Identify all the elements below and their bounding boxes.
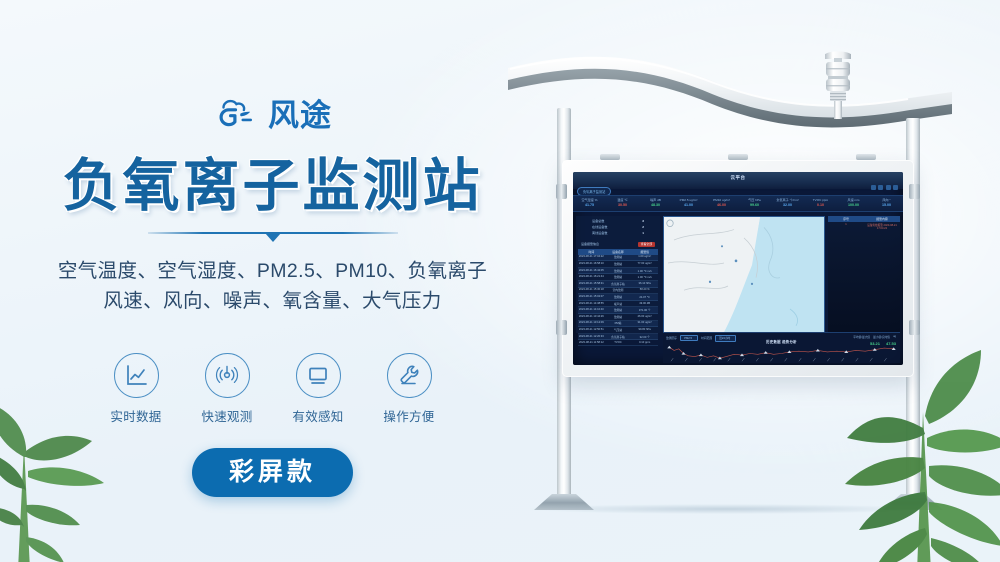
dashboard-screen[interactable]: 云平台 负氧离子监测站 空气湿度 %41.75温度 ℃30.50噪声 dB48.… bbox=[573, 172, 903, 365]
line-chart-icon bbox=[114, 353, 159, 398]
metric-value: 41.75 bbox=[573, 203, 606, 209]
metric-strip: 空气湿度 %41.75温度 ℃30.50噪声 dB48.30PM2.5 ug/m… bbox=[573, 195, 903, 212]
table-cell: 噪声站 bbox=[605, 302, 632, 306]
stat-label: 离线设备数 bbox=[592, 231, 607, 237]
table-cell: 1.00 ug/m³ bbox=[631, 255, 658, 259]
cabinet-hinge bbox=[909, 184, 920, 199]
table-row[interactable]: 2023-08-21 15:02:07监测站24.07 ℃ bbox=[578, 294, 658, 301]
toolbar-icon[interactable] bbox=[886, 185, 891, 190]
china-map-icon bbox=[664, 217, 824, 332]
table-cell: 气压站 bbox=[605, 328, 632, 332]
title-divider bbox=[148, 229, 398, 243]
table-row[interactable]: 2023-08-21 12:20:33负氧离子站32.00 个 bbox=[578, 334, 658, 341]
table-cell: 49.00 dB bbox=[631, 302, 658, 306]
table-row[interactable]: 2023-08-21 14:10:40监测站371.00 个 bbox=[578, 307, 658, 314]
table-cell: 1.00 ℃ m/s bbox=[631, 275, 658, 279]
table-cell: 2023-08-21 15:02:07 bbox=[578, 295, 605, 299]
device-stats-and-alarm-panel: 设备总数3在线设备数2离线设备数1 设备报警信息 查看全部 时间设备名称报警值 … bbox=[576, 216, 660, 333]
metric-cell: 空气湿度 %41.75 bbox=[573, 196, 606, 211]
chart-title: 历史数据 趋势分析 bbox=[663, 339, 900, 344]
monitoring-station-device: 云平台 负氧离子监测站 空气湿度 %41.75温度 ℃30.50噪声 dB48.… bbox=[500, 0, 1000, 562]
metric-cell: 风速 m/s100.00 bbox=[837, 196, 870, 211]
table-cell: 2023-08-21 17:04:22 bbox=[578, 255, 605, 259]
table-cell: 77.00 ug/m³ bbox=[631, 262, 658, 266]
table-cell: 36.10 hPa bbox=[631, 282, 658, 286]
table-cell: 31.00 ug/m³ bbox=[631, 321, 658, 325]
metric-cell: PM10 ug/m³46.00 bbox=[705, 196, 738, 211]
table-cell: 2023-08-21 13:44:26 bbox=[578, 315, 605, 319]
table-cell: 2023-08-21 16:42:05 bbox=[578, 269, 605, 273]
table-cell: 99.80 hPa bbox=[631, 328, 658, 332]
toolbar-icon[interactable] bbox=[893, 185, 898, 190]
metric-value: 0.10 bbox=[804, 203, 837, 209]
table-row[interactable]: 2023-08-21 13:12:09PM站31.00 ug/m³ bbox=[578, 321, 658, 328]
table-row[interactable]: 2023-08-21 14:38:55噪声站49.00 dB bbox=[578, 301, 658, 308]
device-stat-list: 设备总数3在线设备数2离线设备数1 bbox=[576, 216, 660, 239]
brand-name: 风途 bbox=[268, 101, 332, 132]
feature-list: 实时数据 快速观测 有效感知 bbox=[107, 353, 438, 425]
metric-cell: 负氧离子 个/cm³32.00 bbox=[771, 196, 804, 211]
metric-cell: 气压 hPa99.60 bbox=[738, 196, 771, 211]
trend-chart-panel: 监测因子 PM2.5 时间范围 近24小时 平均值/最大值 最小值/实时值 ug… bbox=[663, 332, 900, 363]
table-cell: 2023-08-21 15:30:18 bbox=[578, 288, 605, 292]
table-cell: PM站 bbox=[605, 321, 632, 325]
cabinet-hinge bbox=[556, 320, 567, 335]
table-cell: 室内监测 bbox=[605, 288, 632, 292]
feature-item-realtime-data[interactable]: 实时数据 bbox=[107, 353, 165, 425]
log-column-header: 报警内容 bbox=[864, 217, 900, 221]
table-cell: 46.00 ug/m³ bbox=[631, 315, 658, 319]
toolbar-icon[interactable] bbox=[878, 185, 883, 190]
subtitle-line-2: 风速、风向、噪声、氧含量、大气压力 bbox=[58, 287, 487, 317]
feature-label: 操作方便 bbox=[383, 406, 434, 425]
alarm-column-header: 设备名称 bbox=[605, 250, 632, 254]
feature-item-easy-operation[interactable]: 操作方便 bbox=[380, 353, 438, 425]
table-cell: 58.20 % bbox=[631, 288, 658, 292]
table-row[interactable]: 2023-08-21 11:58:12TVOC0.10 ppm bbox=[578, 340, 658, 346]
metric-value: 32.00 bbox=[771, 203, 804, 209]
screen-toolbar-icons[interactable] bbox=[871, 185, 899, 190]
metric-value: 100.00 bbox=[837, 203, 870, 209]
radar-sensor-icon bbox=[205, 353, 250, 398]
dashboard-title: 云平台 bbox=[573, 175, 903, 181]
metric-value: 99.60 bbox=[738, 203, 771, 209]
metric-cell: PM2.5 ug/m³41.00 bbox=[672, 196, 705, 211]
table-cell: 2023-08-21 12:50:51 bbox=[578, 328, 605, 332]
divider-triangle-icon bbox=[265, 233, 281, 242]
toolbar-icon[interactable] bbox=[871, 185, 876, 190]
table-cell: TVOC bbox=[605, 341, 632, 344]
table-cell: 2023-08-21 16:21:44 bbox=[578, 275, 605, 279]
page-title: 负氧离子监测站 bbox=[63, 156, 483, 216]
metric-value: 48.30 bbox=[639, 203, 672, 209]
alarm-table-body: 2023-08-21 17:04:22监测站1.00 ug/m³2023-08-… bbox=[576, 255, 660, 346]
view-all-badge[interactable]: 查看全部 bbox=[638, 242, 655, 247]
metric-value: 15.00 bbox=[870, 203, 903, 209]
feature-item-fast-observation[interactable]: 快速观测 bbox=[198, 353, 256, 425]
table-cell: 监测站 bbox=[605, 308, 632, 312]
table-cell: 监测站 bbox=[605, 275, 632, 279]
cabinet-hinge bbox=[556, 184, 567, 199]
table-cell: 2023-08-21 12:20:33 bbox=[578, 335, 605, 339]
table-cell: 2023-08-21 16:58:10 bbox=[578, 262, 605, 266]
table-row[interactable]: 2023-08-21 13:44:26监测站46.00 ug/m³ bbox=[578, 314, 658, 321]
cabinet-top-brackets bbox=[562, 154, 914, 162]
alarm-panel-title: 设备报警信息 bbox=[581, 242, 599, 246]
table-row[interactable]: 2023-08-21 17:04:22监测站1.00 ug/m³ bbox=[578, 255, 658, 262]
brand-logo: 风途 bbox=[213, 96, 332, 136]
table-cell: 负氧离子站 bbox=[605, 335, 632, 339]
cabinet-bracket bbox=[856, 154, 876, 160]
log-column-header: 序号 bbox=[828, 217, 864, 221]
subtitle-line-1: 空气温度、空气湿度、PM2.5、PM10、负氧离子 bbox=[58, 257, 487, 287]
display-cabinet: 云平台 负氧离子监测站 空气湿度 %41.75温度 ℃30.50噪声 dB48.… bbox=[562, 160, 914, 377]
table-cell: 1.00 ℃ m/s bbox=[631, 269, 658, 273]
trend-line-chart bbox=[663, 345, 900, 362]
feature-label: 有效感知 bbox=[292, 406, 343, 425]
table-cell: 监测站 bbox=[605, 262, 632, 266]
hero-text-column: 风途 负氧离子监测站 空气温度、空气湿度、PM2.5、PM10、负氧离子 风速、… bbox=[0, 0, 545, 562]
metric-cell: 噪声 dB48.30 bbox=[639, 196, 672, 211]
table-cell: 2023-08-21 14:38:55 bbox=[578, 302, 605, 306]
table-row[interactable]: 2023-08-21 16:58:10监测站77.00 ug/m³ bbox=[578, 261, 658, 268]
metric-cell: 温度 ℃30.50 bbox=[606, 196, 639, 211]
metric-cell: TVOC ppm0.10 bbox=[804, 196, 837, 211]
china-map-panel[interactable] bbox=[663, 216, 825, 333]
table-row[interactable]: 2023-08-21 16:42:05监测站1.00 ℃ m/s bbox=[578, 268, 658, 275]
stat-value: 1 bbox=[642, 231, 644, 237]
table-row[interactable]: 2023-08-21 12:50:51气压站99.80 hPa bbox=[578, 327, 658, 334]
table-cell: 2023-08-21 15:58:31 bbox=[578, 282, 605, 286]
table-cell: 2023-08-21 11:58:12 bbox=[578, 341, 605, 344]
feature-label: 实时数据 bbox=[110, 406, 161, 425]
alarm-panel-header: 设备报警信息 查看全部 bbox=[578, 241, 658, 248]
cabinet-hinge bbox=[909, 320, 920, 335]
table-cell: 2023-08-21 13:12:09 bbox=[578, 321, 605, 325]
hero-subtitle: 空气温度、空气湿度、PM2.5、PM10、负氧离子 风速、风向、噪声、氧含量、大… bbox=[58, 257, 487, 316]
log-cell: 设备离线报警 2023-08-21 17:04:22 bbox=[864, 223, 900, 230]
cloud-g-leaf-logo-icon bbox=[213, 96, 259, 136]
alarm-column-header: 时间 bbox=[578, 250, 605, 254]
table-cell: 0.10 ppm bbox=[631, 341, 658, 344]
table-cell: 负氧离子站 bbox=[605, 282, 632, 286]
device-stat-row: 离线设备数1 bbox=[580, 231, 656, 237]
table-row[interactable]: 2023-08-21 15:30:18室内监测58.20 % bbox=[578, 288, 658, 295]
alarm-log-body: 1设备离线报警 2023-08-21 17:04:22 bbox=[828, 222, 900, 231]
table-cell: 监测站 bbox=[605, 315, 632, 319]
table-row[interactable]: 2023-08-21 16:21:44监测站1.00 ℃ m/s bbox=[578, 274, 658, 281]
table-cell: 32.00 个 bbox=[631, 335, 658, 339]
feature-item-effective-sensing[interactable]: 有效感知 bbox=[289, 353, 347, 425]
table-row[interactable]: 2023-08-21 15:58:31负氧离子站36.10 hPa bbox=[578, 281, 658, 288]
metric-value: 41.00 bbox=[672, 203, 705, 209]
metric-cell: 风向 °15.00 bbox=[870, 196, 903, 211]
table-cell: 24.07 ℃ bbox=[631, 295, 658, 299]
ground-shadow bbox=[530, 504, 920, 514]
ultrasonic-weather-sensor-icon bbox=[816, 49, 860, 119]
monitor-icon bbox=[296, 353, 341, 398]
table-cell: 监测站 bbox=[605, 295, 632, 299]
cabinet-bracket bbox=[728, 154, 748, 160]
table-cell: 371.00 个 bbox=[631, 308, 658, 312]
log-cell: 1 bbox=[828, 223, 864, 230]
s-curve-canopy bbox=[500, 50, 1000, 140]
table-cell: 监测站 bbox=[605, 255, 632, 259]
table-cell: 监测站 bbox=[605, 269, 632, 273]
metric-value: 46.00 bbox=[705, 203, 738, 209]
table-cell: 2023-08-21 14:10:40 bbox=[578, 308, 605, 312]
alarm-log-panel: 序号报警内容 1设备离线报警 2023-08-21 17:04:22 bbox=[828, 216, 900, 333]
cabinet-bracket bbox=[600, 154, 620, 160]
log-row[interactable]: 1设备离线报警 2023-08-21 17:04:22 bbox=[828, 222, 900, 231]
metric-value: 30.50 bbox=[606, 203, 639, 209]
wrench-icon bbox=[387, 353, 432, 398]
alarm-column-header: 报警值 bbox=[631, 250, 658, 254]
feature-label: 快速观测 bbox=[201, 406, 252, 425]
cta-button[interactable]: 彩屏款 bbox=[192, 448, 353, 497]
